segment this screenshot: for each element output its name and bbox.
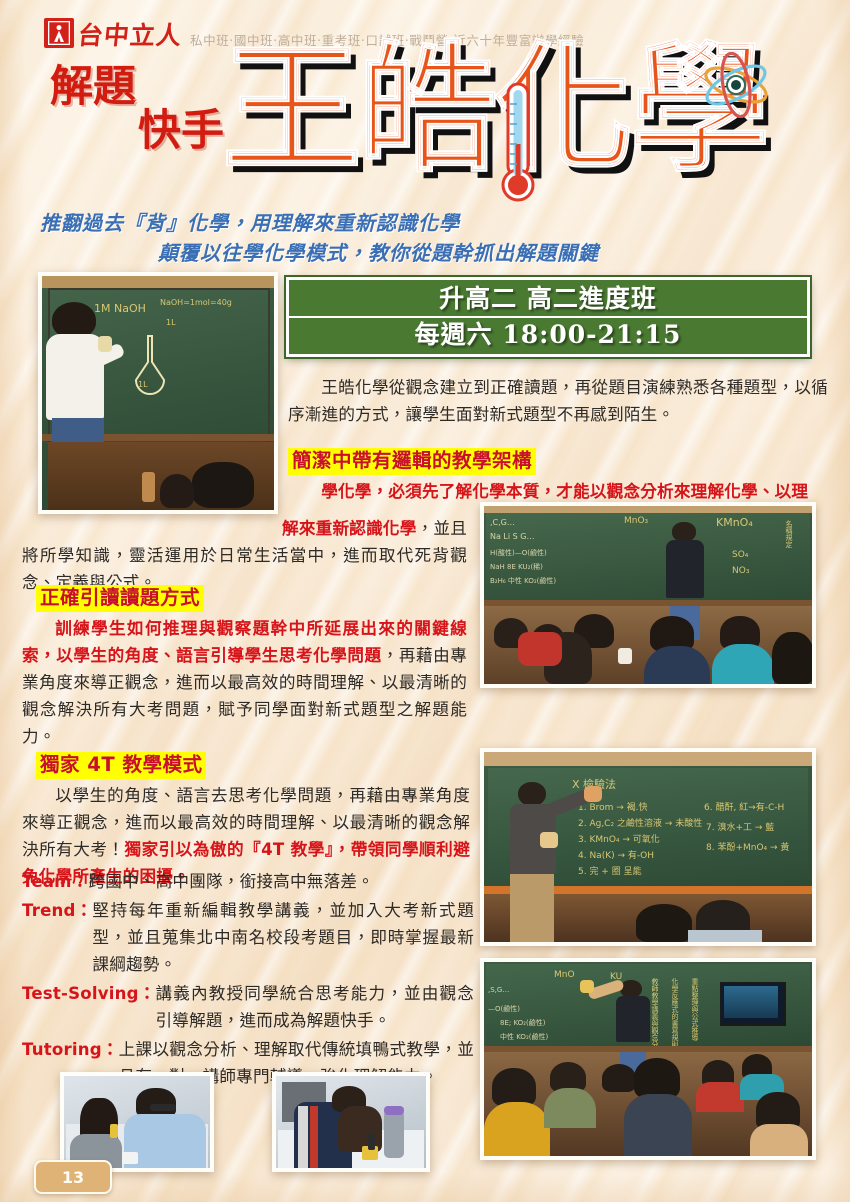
page-title: 王皓化學 xyxy=(222,40,766,180)
four-t-text: 跨國中、高中團隊，銜接高中無落差。 xyxy=(88,868,474,895)
thermometer-icon xyxy=(496,82,540,208)
slogan-line-2: 顛覆以往學化學模式，教你從題幹抓出解題關鍵 xyxy=(40,238,830,268)
left-title-line1: 解題 xyxy=(48,66,228,110)
page-number-badge: 13 xyxy=(34,1160,112,1194)
section-3-heading: 獨家 4T 教學模式 xyxy=(36,752,206,779)
section-2-heading: 正確引讀讀題方式 xyxy=(36,585,204,612)
photo-students-lab-1 xyxy=(60,1072,214,1172)
photo-teacher-naoh-board: 1M NaOH NaOH=1mol=40g 1L 1L xyxy=(38,272,278,514)
slogan-line-1: 推翻過去『背』化學，用理解來重新認識化學 xyxy=(40,208,830,238)
photo-students-lab-2 xyxy=(272,1072,430,1172)
four-t-label: Test-Solving： xyxy=(22,980,156,1034)
intro-paragraph: 王皓化學從觀念建立到正確讀題，再從題目演練熟悉各種題型，以循序漸進的方式，讓學生… xyxy=(288,374,828,428)
section-1-heading-wrap: 簡潔中帶有邏輯的教學架構 xyxy=(288,448,536,475)
photo-classroom-wide: MnO ,S,G… —O(鹼性) 8E; KO₂(鹼性) 中性 KO₂(鹼性) … xyxy=(480,958,816,1160)
atom-icon xyxy=(700,52,772,122)
class-name: 升高二 高二進度班 xyxy=(289,284,807,314)
person-in-box-logo-icon xyxy=(44,18,74,48)
section-1-body-rest: 解來重新認識化學，並且將所學知識，靈活運用於日常生活當中，進而取代死背觀念、定義… xyxy=(22,515,467,596)
four-t-label: Trend： xyxy=(22,897,92,978)
section-1-red-1: 學化學，必須先了解化學本質，才能以觀念分析來理解化學、以理 xyxy=(321,482,808,501)
four-t-item: Team： 跨國中、高中團隊，銜接高中無落差。 xyxy=(22,868,474,895)
four-t-text: 堅持每年重新編輯教學講義，並加入大考新式題型，並且蒐集北中南名校段考題目，即時掌… xyxy=(92,897,474,978)
brand-logo: 台中立人 xyxy=(44,18,182,48)
brand-name: 台中立人 xyxy=(77,23,184,48)
section-2-body: 訓練學生如何推理與觀察題幹中所延展出來的關鍵線索，以學生的角度、語言引導學生思考… xyxy=(22,615,467,750)
section-1-red-2: 解來重新認識化學 xyxy=(282,519,417,538)
slogan: 推翻過去『背』化學，用理解來重新認識化學 顛覆以往學化學模式，教你從題幹抓出解題… xyxy=(40,208,830,268)
photo-classroom-kmno4: ,C,G… Na Li S G… H(酸性)—O(鹼性) NaH 8E KU₂(… xyxy=(480,502,816,688)
class-schedule-banner: 升高二 高二進度班 每週六 18:00-21:15 xyxy=(286,277,810,357)
section-1-body-line1: 學化學，必須先了解化學本質，才能以觀念分析來理解化學、以理 xyxy=(288,478,828,505)
photo-teacher-pointing-board: X 檢驗法 1. Brom → 褐.快 2. Ag,C₂ 之鹼性溶液 → 未酸性… xyxy=(480,748,816,946)
section-2-heading-wrap: 正確引讀讀題方式 xyxy=(36,585,204,612)
left-title-line2: 快手 xyxy=(48,110,228,154)
four-t-item: Test-Solving： 講義內教授同學統合思考能力，並由觀念引導解題，進而成… xyxy=(22,980,474,1034)
four-t-item: Trend： 堅持每年重新編輯教學講義，並加入大考新式題型，並且蒐集北中南名校段… xyxy=(22,897,474,978)
left-title: 解題 快手 xyxy=(48,66,228,154)
four-t-text: 講義內教授同學統合思考能力，並由觀念引導解題，進而成為解題快手。 xyxy=(156,980,475,1034)
section-1-heading: 簡潔中帶有邏輯的教學架構 xyxy=(288,448,536,475)
four-t-list: Team： 跨國中、高中團隊，銜接高中無落差。 Trend： 堅持每年重新編輯教… xyxy=(22,868,474,1092)
class-schedule: 每週六 18:00-21:15 xyxy=(289,316,807,350)
section-3-heading-wrap: 獨家 4T 教學模式 xyxy=(36,752,206,779)
four-t-label: Team： xyxy=(22,868,88,895)
